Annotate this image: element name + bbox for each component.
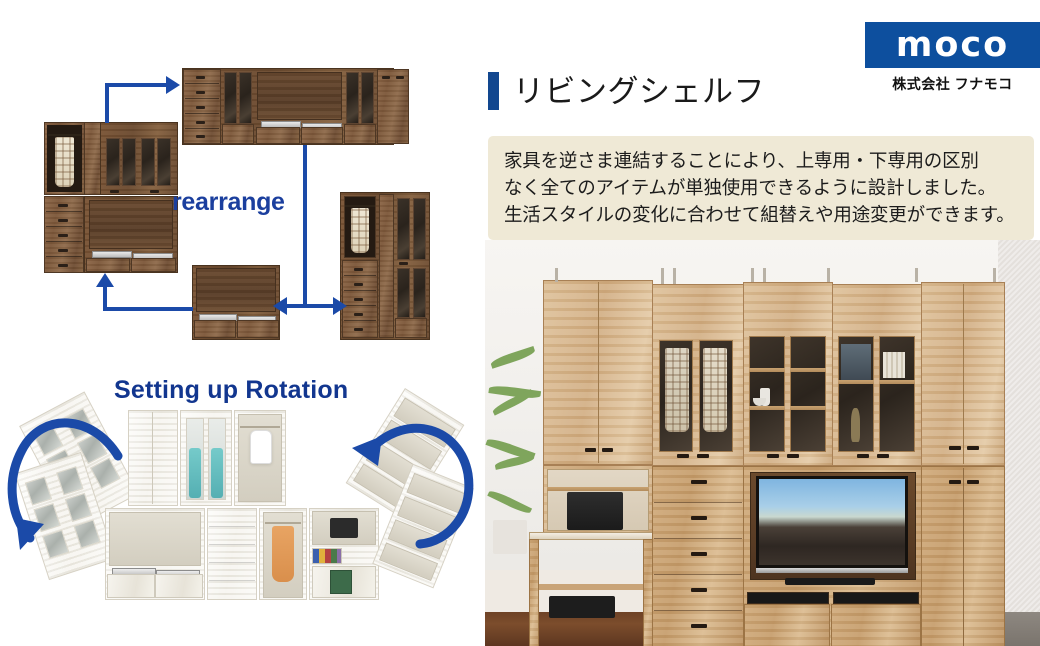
rotation-arrow-right-icon bbox=[338, 396, 483, 566]
company-logo: moco bbox=[865, 22, 1040, 68]
poster-page: rearrange Setting up Rotation bbox=[0, 0, 1040, 646]
description-line-3: 生活スタイルの変化に合わせて組替えや用途変更ができます。 bbox=[504, 201, 1020, 228]
page-title-row: リビングシェルフ bbox=[488, 72, 765, 110]
page-title: リビングシェルフ bbox=[513, 76, 765, 107]
houseplant bbox=[487, 350, 549, 550]
living-room-shelf-photo bbox=[485, 240, 1040, 646]
rearrange-label: rearrange bbox=[172, 188, 285, 217]
flat-screen-tv bbox=[756, 476, 908, 568]
logo-wordmark: moco bbox=[896, 28, 1009, 63]
description-line-1: 家具を逆さま連結することにより、上専用・下専用の区別 bbox=[504, 147, 1020, 174]
setting-up-rotation-diagram: Setting up Rotation bbox=[0, 360, 480, 646]
title-accent-bar bbox=[488, 72, 499, 110]
description-line-2: なく全てのアイテムが単独使用できるように設計しました。 bbox=[504, 174, 1020, 201]
company-name: 株式会社 フナモコ bbox=[865, 74, 1040, 94]
description-box: 家具を逆さま連結することにより、上専用・下専用の区別 なく全てのアイテムが単独使… bbox=[488, 136, 1034, 240]
rotation-title: Setting up Rotation bbox=[114, 376, 348, 405]
left-illustration-column: rearrange Setting up Rotation bbox=[0, 0, 480, 646]
right-content-column: moco 株式会社 フナモコ リビングシェルフ 家具を逆さま連結することにより、… bbox=[480, 0, 1040, 646]
rearrange-diagram: rearrange bbox=[0, 20, 480, 350]
